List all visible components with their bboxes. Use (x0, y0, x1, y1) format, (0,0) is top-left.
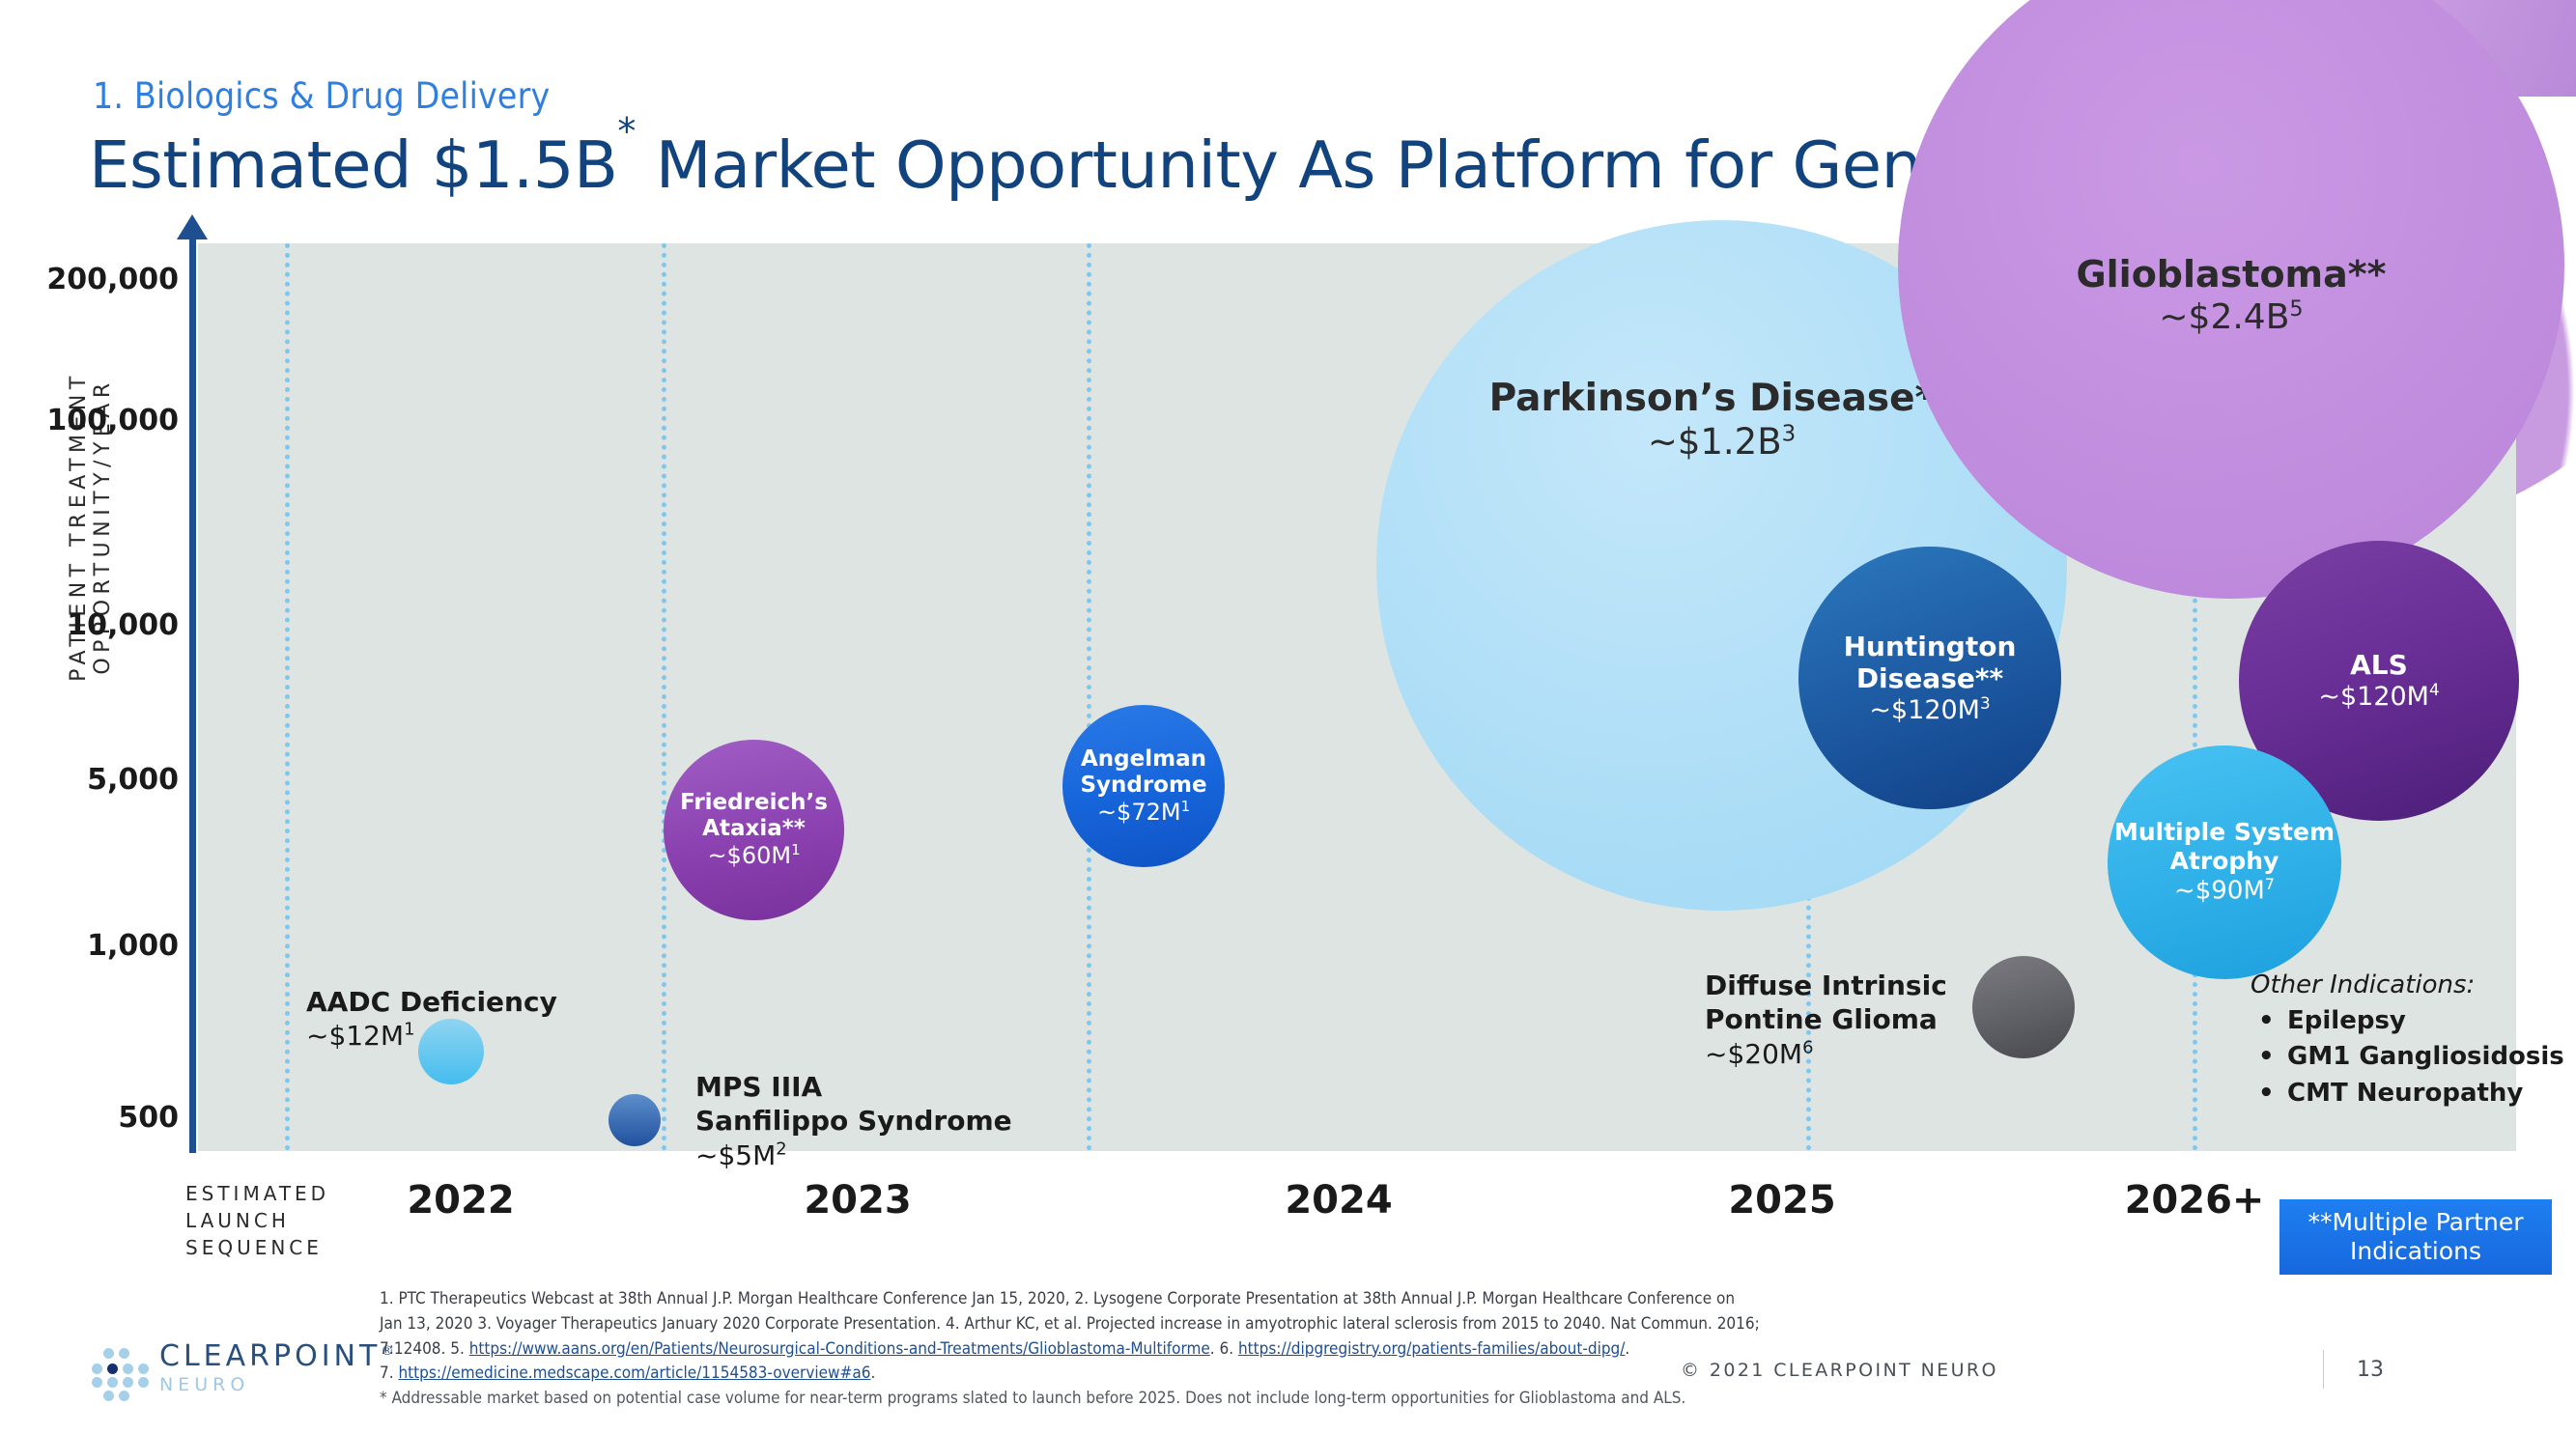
y-tick-1000: 1,000 (87, 929, 179, 963)
footnote-link-aans[interactable]: https://www.aans.org/en/Patients/Neurosu… (469, 1339, 1210, 1359)
bubble-angelman-sup: 1 (1181, 798, 1190, 815)
bubble-msa-label-line2: Atrophy (2170, 847, 2279, 875)
bubble-parkinsons-sup: 3 (1782, 422, 1797, 447)
bubble-huntington-amount: ~$120M (1869, 695, 1980, 725)
bubble-angelman-syndrome[interactable]: Angelman Syndrome ~$72M1 (1062, 705, 1225, 867)
callout-mps-name-line2: Sanfilippo Syndrome (695, 1104, 1012, 1138)
logo-dots-icon (92, 1348, 146, 1392)
callout-dipg-name-line2: Pontine Glioma (1705, 1002, 1947, 1036)
bubble-msa-sup: 7 (2265, 875, 2275, 893)
logo-subname: NEURO (159, 1371, 397, 1399)
bubble-als-label: ALS (2350, 649, 2408, 681)
x-tick-2023: 2023 (804, 1178, 911, 1223)
x-tick-2026: 2026+ (2125, 1178, 2265, 1223)
partner-box-line2: Indications (2350, 1237, 2481, 1265)
other-indication-item: Epilepsy (2250, 1003, 2569, 1039)
bubble-friedreichs-ataxia[interactable]: Friedreich’s Ataxia** ~$60M1 (664, 740, 844, 920)
bubble-msa-amount: ~$90M (2174, 877, 2265, 906)
callout-mps-name-line1: MPS IIIA (695, 1070, 1012, 1104)
bubble-friedreichs-amount: ~$60M (707, 842, 791, 869)
bubble-huntington-label-line2: Disease** (1856, 662, 2003, 694)
footer-divider (2323, 1350, 2324, 1389)
x-tick-2025: 2025 (1728, 1178, 1835, 1223)
bubble-msa-label-line1: Multiple System (2114, 818, 2335, 846)
logo-wordmark: CLEARPOINT® NEURO (159, 1342, 397, 1399)
callout-dipg-name-line1: Diffuse Intrinsic (1705, 969, 1947, 1002)
bubble-als-amount: ~$120M (2318, 682, 2429, 712)
bubble-huntington-sup: 3 (1980, 693, 1991, 713)
footnote-line-2: Jan 13, 2020 3. Voyager Therapeutics Jan… (380, 1312, 2118, 1337)
bubble-mps-iiia[interactable] (609, 1094, 661, 1146)
logo-name: CLEARPOINT (159, 1339, 381, 1373)
bubble-parkinsons-amount: ~$1.2B (1648, 421, 1782, 463)
footnote-line-1: 1. PTC Therapeutics Webcast at 38th Annu… (380, 1287, 2118, 1312)
footnote-3-mid: . 6. (1210, 1339, 1238, 1359)
title-asterisk: * (617, 110, 636, 153)
y-tick-200000: 200,000 (46, 263, 179, 296)
slide: 1. Biologics & Drug Delivery Estimated $… (0, 0, 2576, 1434)
gridline-2024 (1087, 243, 1091, 1151)
bubble-multiple-system-atrophy[interactable]: Multiple System Atrophy ~$90M7 (2108, 745, 2341, 979)
bubble-huntington-label-line1: Huntington (1844, 631, 2017, 662)
callout-aadc-deficiency: AADC Deficiency ~$12M1 (306, 985, 557, 1054)
x-tick-2022: 2022 (407, 1178, 514, 1223)
other-indication-item: GM1 Gangliosidosis (2250, 1039, 2569, 1075)
y-tick-100000: 100,000 (46, 404, 179, 437)
bubble-huntington[interactable]: Huntington Disease** ~$120M3 (1798, 547, 2061, 809)
bubble-friedreichs-sup: 1 (791, 841, 800, 858)
callout-mps-sup: 2 (776, 1139, 786, 1159)
footnote-line-5: * Addressable market based on potential … (380, 1387, 2118, 1412)
partner-box-line1: **Multiple Partner (2307, 1208, 2523, 1236)
clearpoint-logo: CLEARPOINT® NEURO (92, 1342, 397, 1399)
callout-dipg-sup: 6 (1802, 1037, 1813, 1057)
multiple-partner-indications-box: **Multiple Partner Indications (2279, 1199, 2552, 1275)
other-indication-item: CMT Neuropathy (2250, 1076, 2569, 1111)
bubble-angelman-label-line1: Angelman (1081, 746, 1206, 772)
bubble-dipg[interactable] (1972, 956, 2075, 1058)
bubble-parkinsons-label: Parkinson’s Disease** (1489, 377, 1955, 420)
callout-mps-iiia: MPS IIIA Sanfilippo Syndrome ~$5M2 (695, 1070, 1012, 1172)
y-tick-10000: 10,000 (67, 608, 179, 642)
footnote-4-post: . (870, 1364, 875, 1383)
y-axis-arrow-icon (177, 214, 208, 239)
bubble-angelman-amount: ~$72M (1097, 799, 1181, 826)
callout-aadc-name: AADC Deficiency (306, 985, 557, 1019)
gridline-2022 (285, 243, 290, 1151)
callout-aadc-amount: ~$12M (306, 1020, 404, 1052)
y-tick-5000: 5,000 (87, 763, 179, 797)
footnote-link-medscape[interactable]: https://emedicine.medscape.com/article/1… (398, 1364, 870, 1383)
other-indications-heading: Other Indications: (2250, 970, 2569, 999)
bubble-friedreichs-label-line2: Ataxia** (702, 816, 806, 841)
page-number: 13 (2357, 1358, 2384, 1382)
footnotes: 1. PTC Therapeutics Webcast at 38th Annu… (380, 1287, 2118, 1412)
copyright-text: © 2021 CLEARPOINT NEURO (1681, 1360, 1998, 1381)
x-axis-ticks: 2022 2023 2024 2025 2026+ (0, 1178, 2576, 1265)
callout-dipg-amount: ~$20M (1705, 1038, 1802, 1070)
callout-aadc-sup: 1 (404, 1020, 414, 1040)
callout-mps-amount: ~$5M (695, 1139, 776, 1171)
y-axis-ticks: 200,000 100,000 10,000 5,000 1,000 500 (0, 0, 179, 1159)
footnote-line-3: 7:12408. 5. https://www.aans.org/en/Pati… (380, 1337, 2118, 1363)
y-axis-line (189, 236, 196, 1153)
logo-registered-icon: ® (381, 1344, 397, 1359)
callout-dipg: Diffuse Intrinsic Pontine Glioma ~$20M6 (1705, 969, 1947, 1071)
bubble-angelman-label-line2: Syndrome (1080, 773, 1206, 798)
bubble-glioblastoma-sup: 5 (2289, 296, 2303, 322)
bubble-glioblastoma-label: Glioblastoma** (2076, 253, 2386, 295)
bubble-friedreichs-label-line1: Friedreich’s (680, 790, 828, 815)
footnote-3-post: . (1625, 1339, 1629, 1359)
gridline-2023 (662, 243, 666, 1151)
bubble-glioblastoma-amount: ~$2.4B (2159, 297, 2289, 337)
other-indications-panel: Other Indications: Epilepsy GM1 Ganglios… (2250, 970, 2569, 1111)
y-tick-500: 500 (118, 1101, 179, 1135)
footnote-link-dipgregistry[interactable]: https://dipgregistry.org/patients-famili… (1238, 1339, 1625, 1359)
x-tick-2024: 2024 (1285, 1178, 1392, 1223)
bubble-als-sup: 4 (2429, 680, 2440, 699)
other-indications-list: Epilepsy GM1 Gangliosidosis CMT Neuropat… (2250, 1003, 2569, 1111)
